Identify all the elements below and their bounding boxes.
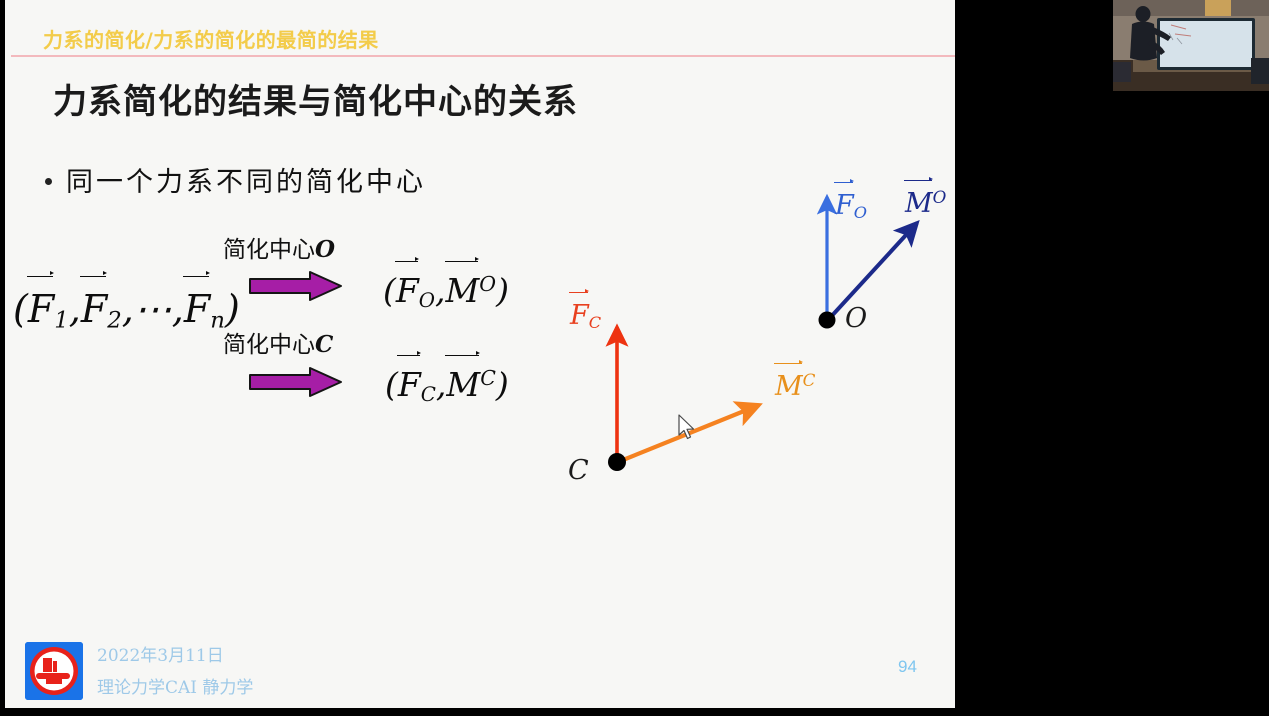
force-system-expression: (F1,F2,⋯,Fn) xyxy=(13,287,240,334)
vector-diagram: FO MO O FC MC C xyxy=(545,175,955,505)
footer-date: 2022年3月11日 xyxy=(97,641,224,666)
label-FO-sub: O xyxy=(854,203,867,222)
reduction-center-o-label: 简化中心O xyxy=(223,230,335,264)
mouse-cursor-icon xyxy=(677,414,697,442)
point-C-dot xyxy=(608,453,626,471)
header-divider xyxy=(11,55,955,57)
vector-F2: F xyxy=(81,287,107,331)
reduction-arrow-o-icon xyxy=(248,269,343,303)
page-number: 94 xyxy=(898,657,917,677)
reduction-arrow-c-icon xyxy=(248,365,343,399)
vector-MC: M xyxy=(446,365,480,404)
reduction-center-c-point: C xyxy=(315,331,333,358)
page-title: 力系简化的结果与简化中心的关系 xyxy=(53,74,578,123)
label-point-C: C xyxy=(568,455,589,486)
comma-o: , xyxy=(435,271,446,310)
label-MO-sup: O xyxy=(933,187,947,207)
vector-diagram-svg xyxy=(545,175,955,505)
slide-canvas: 力系的简化/力系的简化的最简的结果 力系简化的结果与简化中心的关系 同一个力系不… xyxy=(5,0,955,708)
comma-c: , xyxy=(436,365,447,404)
label-vector-MC: MC xyxy=(775,370,815,402)
label-MC-letter: M xyxy=(775,371,803,402)
vector-FO: F xyxy=(396,271,419,310)
label-vector-FC: FC xyxy=(570,300,601,332)
reduction-center-o-text: 简化中心 xyxy=(223,237,315,263)
vector-F2-sub: 2 xyxy=(107,308,122,334)
label-vector-MO: MO xyxy=(905,187,946,219)
paren-close-c: ) xyxy=(496,365,509,404)
result-o-expression: (FO,MO) xyxy=(383,271,509,312)
label-FC-letter: F xyxy=(570,300,589,331)
vector-FC-sub: C xyxy=(421,383,436,406)
label-FO-letter: F xyxy=(835,190,854,221)
slide-header: 力系的简化/力系的简化的最简的结果 xyxy=(5,0,955,55)
vector-F1-sub: 1 xyxy=(54,308,69,334)
label-FC-sub: C xyxy=(589,313,601,332)
math-equation-block: (F1,F2,⋯,Fn) 简化中心O (FO,MO) 简化中心C (FC,MC) xyxy=(5,225,565,410)
vector-MC-sup: C xyxy=(480,366,496,390)
paren-open: ( xyxy=(13,287,28,331)
reduction-center-c-text: 简化中心 xyxy=(223,332,315,358)
result-c-expression: (FC,MC) xyxy=(385,365,509,406)
label-vector-FO: FO xyxy=(835,190,867,222)
label-point-O: O xyxy=(845,303,867,334)
paren-close-o: ) xyxy=(496,271,509,310)
ellipsis: ,⋯, xyxy=(122,287,184,331)
label-MC-sup: C xyxy=(803,370,816,390)
university-emblem-icon xyxy=(25,642,83,700)
vector-FC: F xyxy=(398,365,421,404)
label-MO-letter: M xyxy=(905,188,933,219)
screen-root: 力系的简化/力系的简化的最简的结果 力系简化的结果与简化中心的关系 同一个力系不… xyxy=(0,0,1269,716)
vector-FO-sub: O xyxy=(419,289,435,312)
vector-MO-sup: O xyxy=(479,272,496,296)
lecturer-video-overlay[interactable] xyxy=(1113,0,1269,91)
bullet-item: 同一个力系不同的简化中心 xyxy=(45,160,426,199)
bullet-dot-icon xyxy=(45,178,52,185)
point-O-dot xyxy=(819,312,836,329)
vector-MO: M xyxy=(446,271,480,310)
reduction-center-o-point: O xyxy=(315,236,335,263)
paren-open-o: ( xyxy=(383,271,396,310)
vector-Fn: F xyxy=(184,287,210,331)
bullet-text: 同一个力系不同的简化中心 xyxy=(66,160,426,199)
paren-open-c: ( xyxy=(385,365,398,404)
comma-1: , xyxy=(69,287,81,331)
vector-F1: F xyxy=(28,287,54,331)
breadcrumb: 力系的简化/力系的简化的最简的结果 xyxy=(43,24,379,53)
lecturer-video-frame xyxy=(1113,0,1269,91)
footer-course: 理论力学CAI 静力学 xyxy=(97,673,253,698)
reduction-center-c-label: 简化中心C xyxy=(223,325,333,359)
vector-MO-arrow xyxy=(828,223,917,320)
